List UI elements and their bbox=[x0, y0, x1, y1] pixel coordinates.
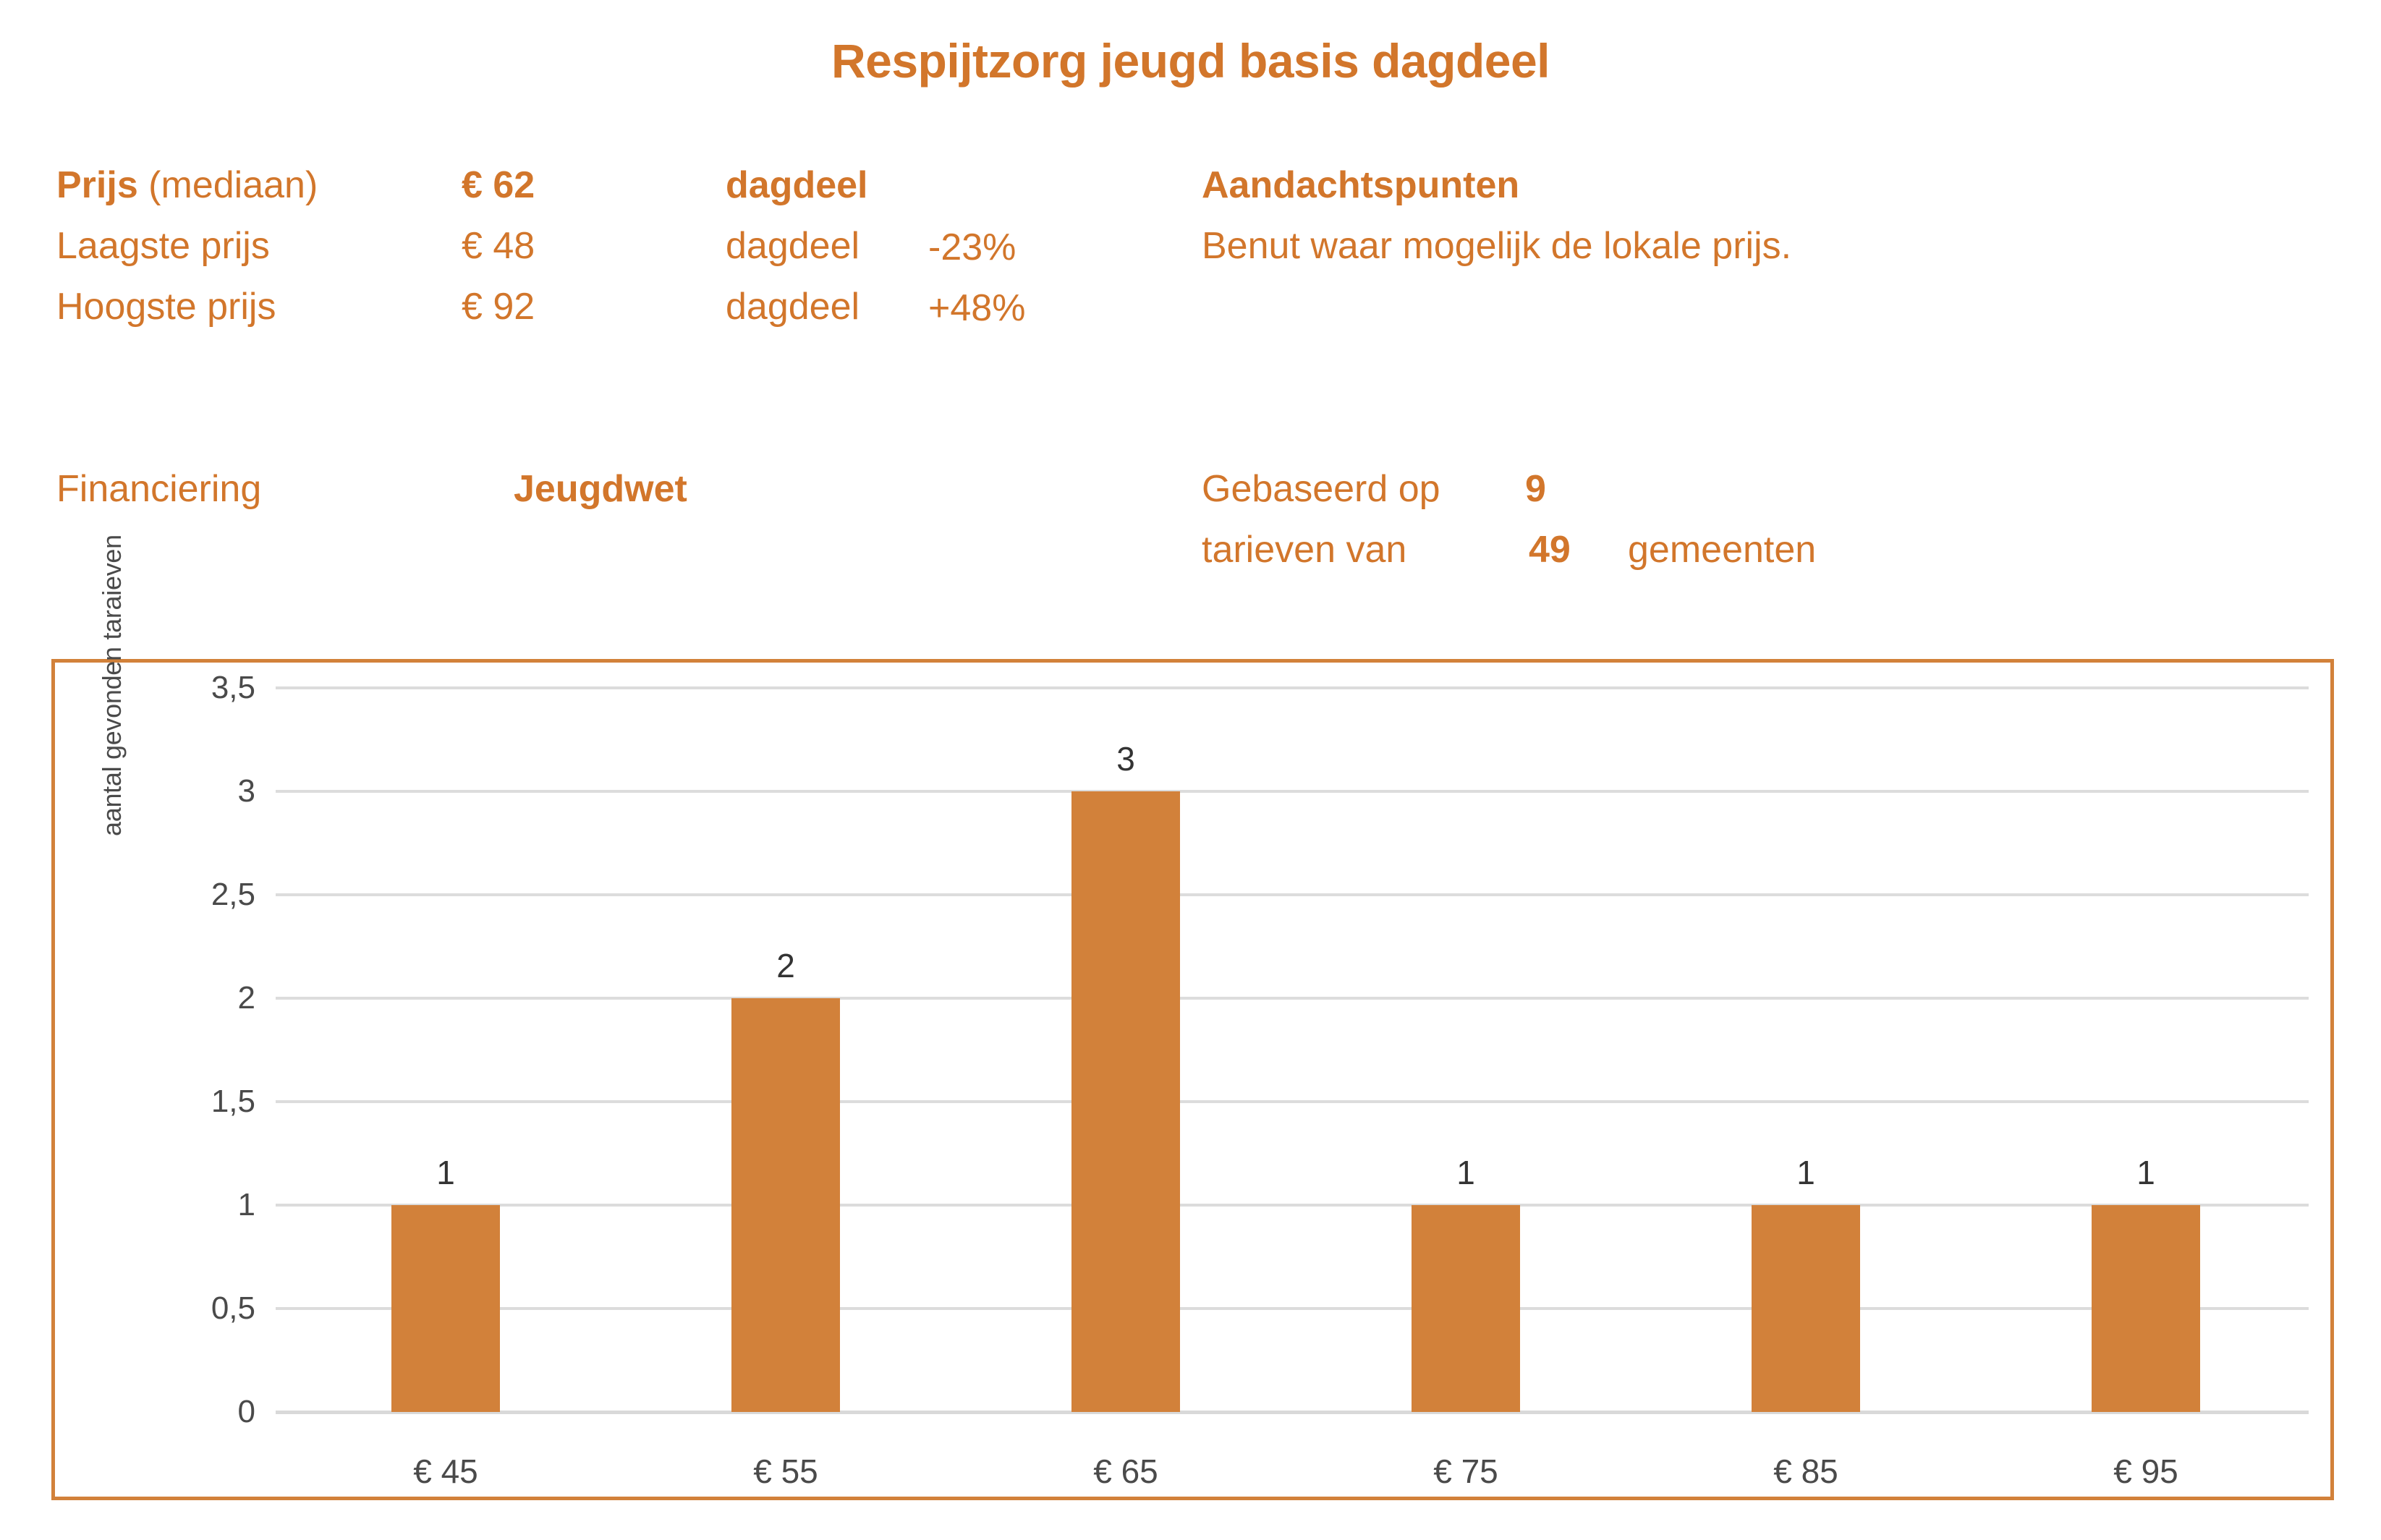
bar-value-label: 2 bbox=[731, 949, 840, 982]
financing-value: Jeugdwet bbox=[514, 470, 687, 508]
tariffs-prefix: tarieven van bbox=[1202, 531, 1406, 569]
gridline bbox=[276, 893, 2309, 896]
municipalities-count: 49 bbox=[1529, 531, 1571, 569]
page-title: Respijtzorg jeugd basis dagdeel bbox=[0, 33, 2381, 88]
summary-price-median: € 62 bbox=[462, 166, 535, 204]
financing-block: Financiering Jeugdwet Gebaseerd op 9 tar… bbox=[56, 470, 2321, 592]
financing-row-1: Financiering Jeugdwet Gebaseerd op 9 bbox=[56, 470, 2321, 531]
summary-label-median-rest: (mediaan) bbox=[138, 164, 318, 206]
bar bbox=[1412, 1205, 1520, 1412]
gridline bbox=[276, 997, 2309, 1000]
summary-row-median: Prijs (mediaan) € 62 dagdeel Aandachtspu… bbox=[56, 166, 2321, 227]
y-axis-tick-label: 0,5 bbox=[211, 1293, 255, 1324]
chart-inner: aantal gevonden taraieven 3,532,521,510,… bbox=[55, 663, 2330, 1497]
bar bbox=[1071, 791, 1180, 1412]
gridline bbox=[276, 1307, 2309, 1310]
summary-unit-highest: dagdeel bbox=[726, 288, 860, 326]
summary-pct-lowest: -23% bbox=[928, 229, 1016, 266]
plot-area: 3,532,521,510,501€ 452€ 553€ 651€ 751€ 8… bbox=[276, 688, 2309, 1412]
summary-price-highest: € 92 bbox=[462, 288, 535, 326]
x-axis-tick-label: € 65 bbox=[1017, 1455, 1234, 1488]
chart-container: aantal gevonden taraieven 3,532,521,510,… bbox=[51, 659, 2334, 1500]
x-axis-tick-label: € 75 bbox=[1357, 1455, 1574, 1488]
summary-label-median-bold: Prijs bbox=[56, 164, 138, 206]
x-axis-tick-label: € 95 bbox=[2037, 1455, 2254, 1488]
bar-value-label: 1 bbox=[391, 1156, 500, 1189]
bar-value-label: 3 bbox=[1071, 742, 1180, 775]
financing-row-2: tarieven van 49 gemeenten bbox=[56, 531, 2321, 592]
attention-text: Benut waar mogelijk de lokale prijs. bbox=[1202, 227, 1791, 265]
bar bbox=[391, 1205, 500, 1412]
y-axis-tick-label: 2 bbox=[238, 982, 255, 1014]
bar-value-label: 1 bbox=[2092, 1156, 2200, 1189]
gridline bbox=[276, 1204, 2309, 1207]
based-on-count: 9 bbox=[1525, 470, 1546, 508]
y-axis-tick-label: 3,5 bbox=[211, 672, 255, 704]
y-axis-tick-label: 1 bbox=[238, 1189, 255, 1221]
y-axis-tick-label: 0 bbox=[238, 1396, 255, 1428]
y-axis-tick-label: 2,5 bbox=[211, 879, 255, 911]
y-axis-tick-label: 1,5 bbox=[211, 1086, 255, 1118]
summary-price-lowest: € 48 bbox=[462, 227, 535, 265]
bar bbox=[1752, 1205, 1860, 1412]
bar-value-label: 1 bbox=[1752, 1156, 1860, 1189]
summary-unit-median: dagdeel bbox=[726, 166, 868, 204]
summary-pct-highest: +48% bbox=[928, 289, 1025, 327]
summary-unit-lowest: dagdeel bbox=[726, 227, 860, 265]
summary-block: Prijs (mediaan) € 62 dagdeel Aandachtspu… bbox=[56, 166, 2321, 349]
y-axis-title: aantal gevonden taraieven bbox=[97, 402, 127, 836]
bar bbox=[731, 998, 840, 1412]
summary-label-highest: Hoogste prijs bbox=[56, 288, 276, 326]
attention-heading: Aandachtspunten bbox=[1202, 166, 1519, 204]
y-axis-tick-label: 3 bbox=[238, 775, 255, 807]
bar bbox=[2092, 1205, 2200, 1412]
gridline bbox=[276, 1100, 2309, 1103]
x-axis-tick-label: € 55 bbox=[677, 1455, 894, 1488]
financing-label: Financiering bbox=[56, 470, 261, 508]
gridline bbox=[276, 790, 2309, 793]
summary-label-median: Prijs (mediaan) bbox=[56, 166, 318, 204]
summary-row-lowest: Laagste prijs € 48 dagdeel -23% Benut wa… bbox=[56, 227, 2321, 288]
x-axis-tick-label: € 85 bbox=[1697, 1455, 1914, 1488]
bar-value-label: 1 bbox=[1412, 1156, 1520, 1189]
x-axis-tick-label: € 45 bbox=[337, 1455, 554, 1488]
summary-row-highest: Hoogste prijs € 92 dagdeel +48% bbox=[56, 288, 2321, 349]
based-on-prefix: Gebaseerd op bbox=[1202, 470, 1440, 508]
summary-label-lowest: Laagste prijs bbox=[56, 227, 270, 265]
municipalities-word: gemeenten bbox=[1628, 531, 1816, 569]
gridline bbox=[276, 1411, 2309, 1414]
gridline bbox=[276, 686, 2309, 689]
slide-root: Respijtzorg jeugd basis dagdeel Prijs (m… bbox=[0, 0, 2381, 1540]
